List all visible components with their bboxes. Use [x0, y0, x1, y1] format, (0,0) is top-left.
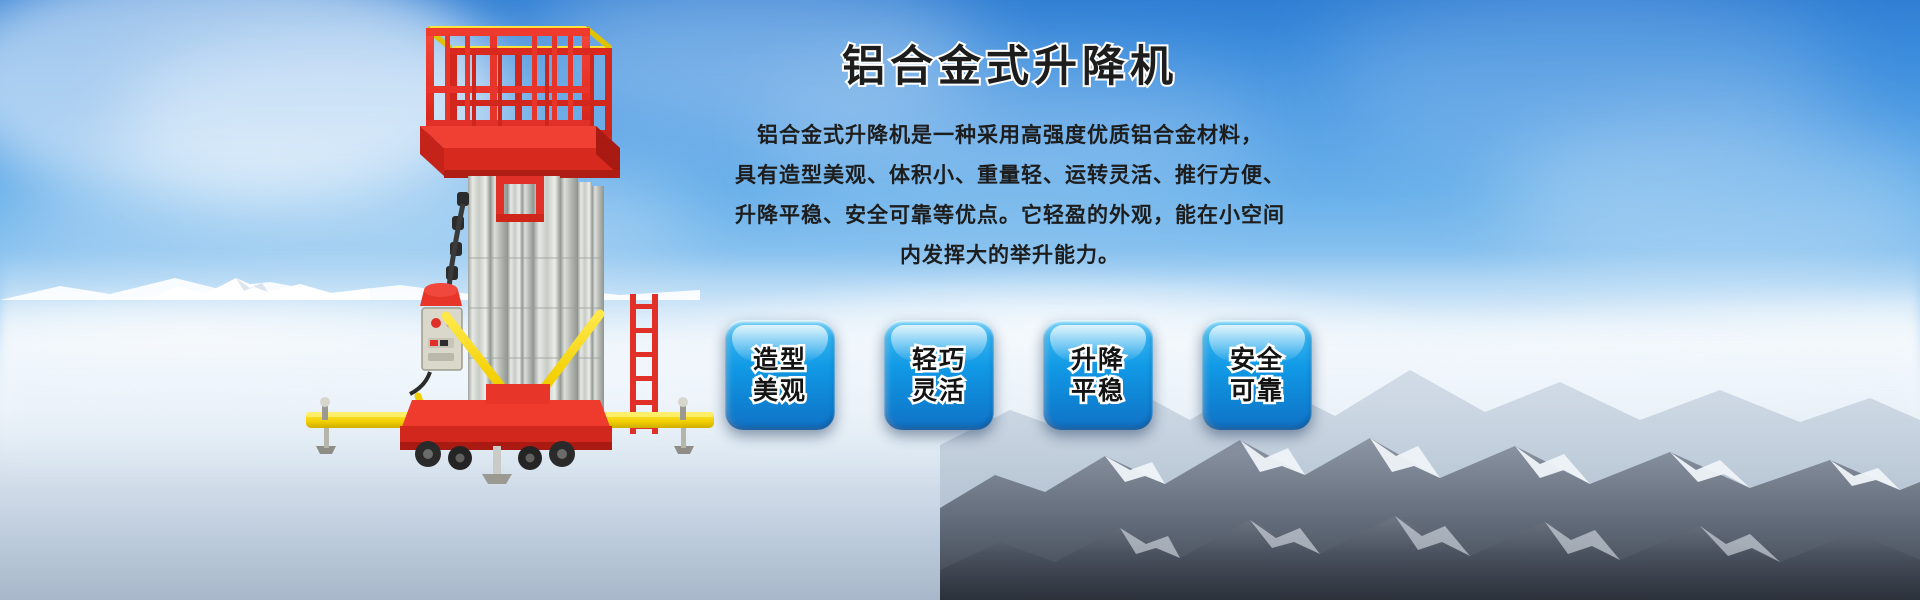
banner-copy: 铝合金式升降机 铝合金式升降机是一种采用高强度优质铝合金材料， 具有造型美观、体… — [730, 44, 1290, 275]
page-title: 铝合金式升降机 — [730, 44, 1290, 91]
product-description: 铝合金式升降机是一种采用高强度优质铝合金材料， 具有造型美观、体积小、重量轻、运… — [730, 115, 1290, 275]
feature-line-1: 安全 — [1230, 344, 1284, 375]
description-line: 内发挥大的举升能力。 — [730, 235, 1290, 275]
feature-line-2: 美观 — [753, 375, 807, 406]
feature-badge-label: 造型 美观 — [753, 344, 807, 406]
feature-badge-lightweight[interactable]: 轻巧 灵活 — [884, 320, 994, 430]
feature-badge-row: 造型 美观 轻巧 灵活 升降 平稳 安全 可靠 — [725, 320, 1312, 430]
description-line: 铝合金式升降机是一种采用高强度优质铝合金材料， — [730, 115, 1290, 155]
description-line: 具有造型美观、体积小、重量轻、运转灵活、推行方便、 — [730, 155, 1290, 195]
feature-badge-safety[interactable]: 安全 可靠 — [1202, 320, 1312, 430]
feature-badge-label: 升降 平稳 — [1071, 344, 1125, 406]
feature-badge-label: 安全 可靠 — [1230, 344, 1284, 406]
product-banner: 铝合金式升降机 铝合金式升降机是一种采用高强度优质铝合金材料， 具有造型美观、体… — [0, 0, 1920, 600]
feature-line-1: 造型 — [753, 344, 807, 375]
description-line: 升降平稳、安全可靠等优点。它轻盈的外观，能在小空间 — [730, 195, 1290, 235]
feature-line-2: 平稳 — [1071, 375, 1125, 406]
feature-line-1: 升降 — [1071, 344, 1125, 375]
feature-badge-smooth-lifting[interactable]: 升降 平稳 — [1043, 320, 1153, 430]
page-title-text: 铝合金式升降机 — [842, 44, 1178, 91]
feature-line-2: 可靠 — [1230, 375, 1284, 406]
feature-badge-appearance[interactable]: 造型 美观 — [725, 320, 835, 430]
feature-line-2: 灵活 — [912, 375, 966, 406]
feature-badge-label: 轻巧 灵活 — [912, 344, 966, 406]
feature-line-1: 轻巧 — [912, 344, 966, 375]
product-image-lift-platform — [300, 8, 720, 488]
